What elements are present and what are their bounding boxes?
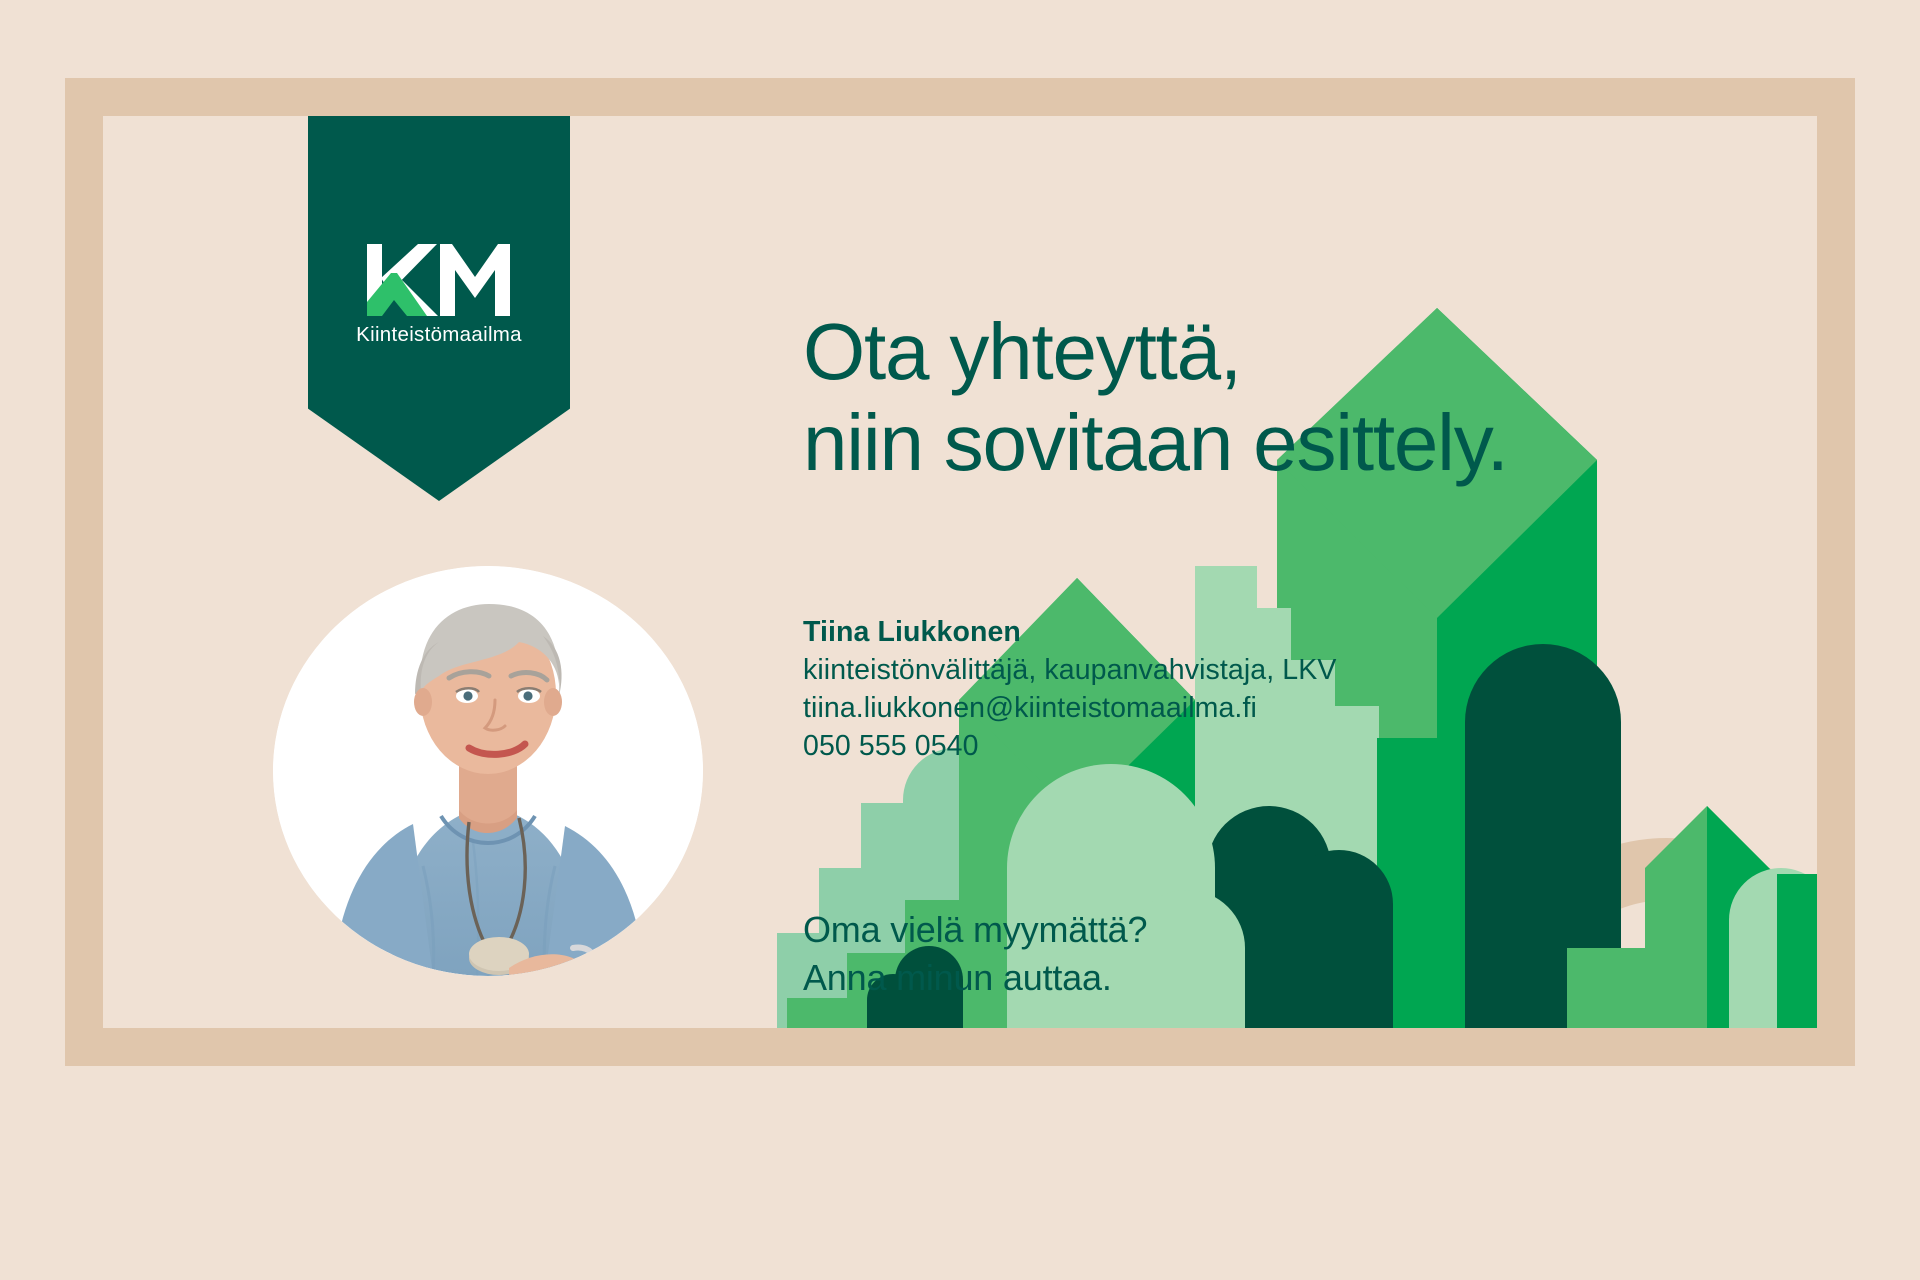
- card-frame: Ota yhteyttä, niin sovitaan esittely. Ti…: [65, 78, 1855, 1066]
- cta-line-2: Anna minun auttaa.: [803, 954, 1147, 1002]
- headline-line-1: Ota yhteyttä,: [803, 306, 1508, 397]
- page-title: Ota yhteyttä, niin sovitaan esittely.: [803, 306, 1508, 488]
- headline-line-2: niin sovitaan esittely.: [803, 397, 1508, 488]
- km-brand-banner: Kiinteistömaailma: [308, 116, 570, 501]
- agent-email[interactable]: tiina.liukkonen@kiinteistomaailma.fi: [803, 690, 1336, 728]
- cta-line-1: Oma vielä myymättä?: [803, 906, 1147, 954]
- card-inner: Ota yhteyttä, niin sovitaan esittely. Ti…: [103, 116, 1817, 1028]
- agent-title: kiinteistönvälittäjä, kaupanvahvistaja, …: [803, 652, 1336, 690]
- km-logo: Kiinteistömaailma: [308, 244, 570, 347]
- contact-block: Tiina Liukkonen kiinteistönvälittäjä, ka…: [803, 614, 1336, 766]
- km-wordmark: Kiinteistömaailma: [356, 323, 522, 347]
- agent-phone[interactable]: 050 555 0540: [803, 728, 1336, 766]
- avatar: [273, 566, 703, 976]
- agent-name: Tiina Liukkonen: [803, 614, 1336, 652]
- km-monogram-icon: [364, 244, 514, 316]
- cta-block: Oma vielä myymättä? Anna minun auttaa.: [803, 906, 1147, 1002]
